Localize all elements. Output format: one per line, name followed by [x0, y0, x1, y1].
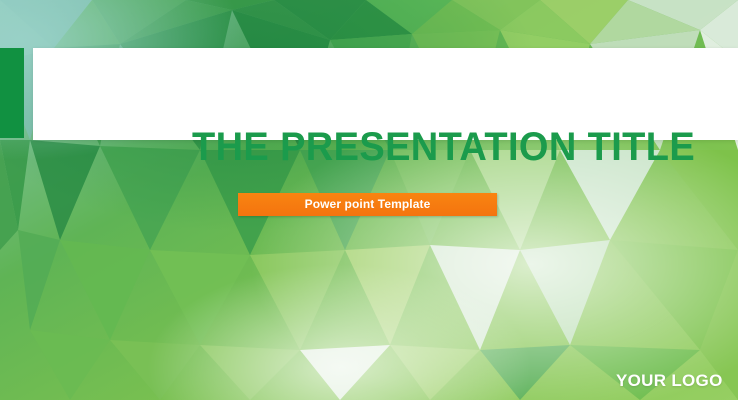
title-band: THE PRESENTATION TITLE: [33, 48, 738, 140]
page-title: THE PRESENTATION TITLE: [192, 122, 629, 172]
title-accent-bar: [0, 48, 24, 138]
presentation-slide: THE PRESENTATION TITLE Power point Templ…: [0, 0, 738, 400]
subtitle-banner-label: Power point Template: [238, 193, 497, 216]
subtitle-banner: Power point Template: [238, 193, 497, 216]
logo-placeholder: YOUR LOGO: [616, 370, 723, 392]
